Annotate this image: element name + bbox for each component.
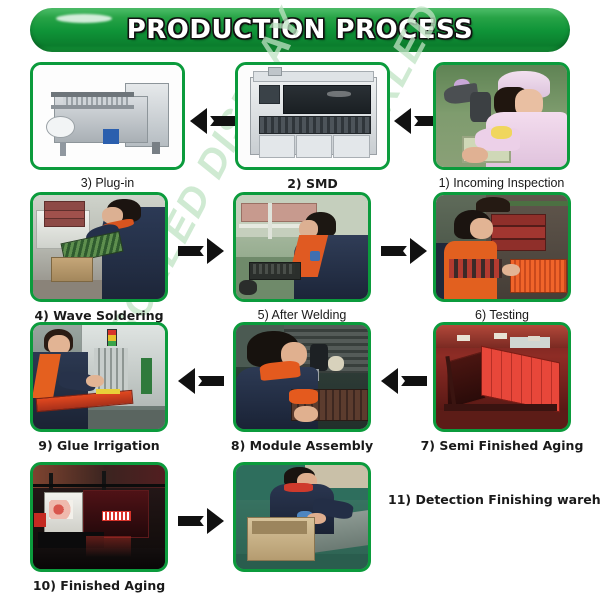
finished-aging-photo (33, 465, 165, 569)
step-caption-finished-aging: 10) Finished Aging (18, 578, 180, 593)
incoming-inspection-frame (433, 62, 570, 170)
semi-finished-aging-frame (433, 322, 571, 432)
testing-frame (433, 192, 571, 302)
after-welding-photo (236, 195, 368, 299)
packing-photo (236, 465, 368, 569)
arrow-finished-to-packing (178, 508, 224, 534)
wave-soldering-photo (33, 195, 165, 299)
production-process-flowchart: 3) Plug-in 2) SMD (0, 0, 600, 600)
semi-finished-aging-photo (436, 325, 568, 429)
step-caption-smd: 2) SMD (235, 176, 390, 191)
finished-aging-frame (30, 462, 168, 572)
glue-irrigation-frame (30, 322, 168, 432)
arrow-wave-to-welding (178, 238, 224, 264)
arrow-welding-to-testing (381, 238, 427, 264)
arrow-assembly-to-glue (178, 368, 224, 394)
step-caption-detection-finishing-warehousing: 11) Detection Finishing warehousing (388, 492, 600, 507)
after-welding-frame (233, 192, 371, 302)
module-assembly-frame (233, 322, 371, 432)
step-caption-after-welding: 5) After Welding (221, 308, 383, 322)
smd-machine-photo (238, 65, 387, 167)
plug-in-frame (30, 62, 185, 170)
step-caption-glue-irrigation: 9) Glue Irrigation (18, 438, 180, 453)
step-caption-incoming-inspection: 1) Incoming Inspection (417, 176, 586, 190)
arrow-aging-to-assembly (381, 368, 427, 394)
arrow-smd-to-plugin (190, 108, 236, 134)
testing-photo (436, 195, 568, 299)
step-caption-testing: 6) Testing (421, 308, 583, 322)
step-caption-module-assembly: 8) Module Assembly (217, 438, 387, 453)
step-caption-semi-finished-aging: 7) Semi Finished Aging (419, 438, 585, 453)
plug-in-machine-photo (33, 65, 182, 167)
smd-frame (235, 62, 390, 170)
wave-soldering-frame (30, 192, 168, 302)
module-assembly-photo (236, 325, 368, 429)
step-caption-wave-soldering: 4) Wave Soldering (18, 308, 180, 323)
step-caption-plug-in: 3) Plug-in (30, 176, 185, 190)
incoming-inspection-photo (436, 65, 567, 167)
packing-frame (233, 462, 371, 572)
glue-irrigation-photo (33, 325, 165, 429)
